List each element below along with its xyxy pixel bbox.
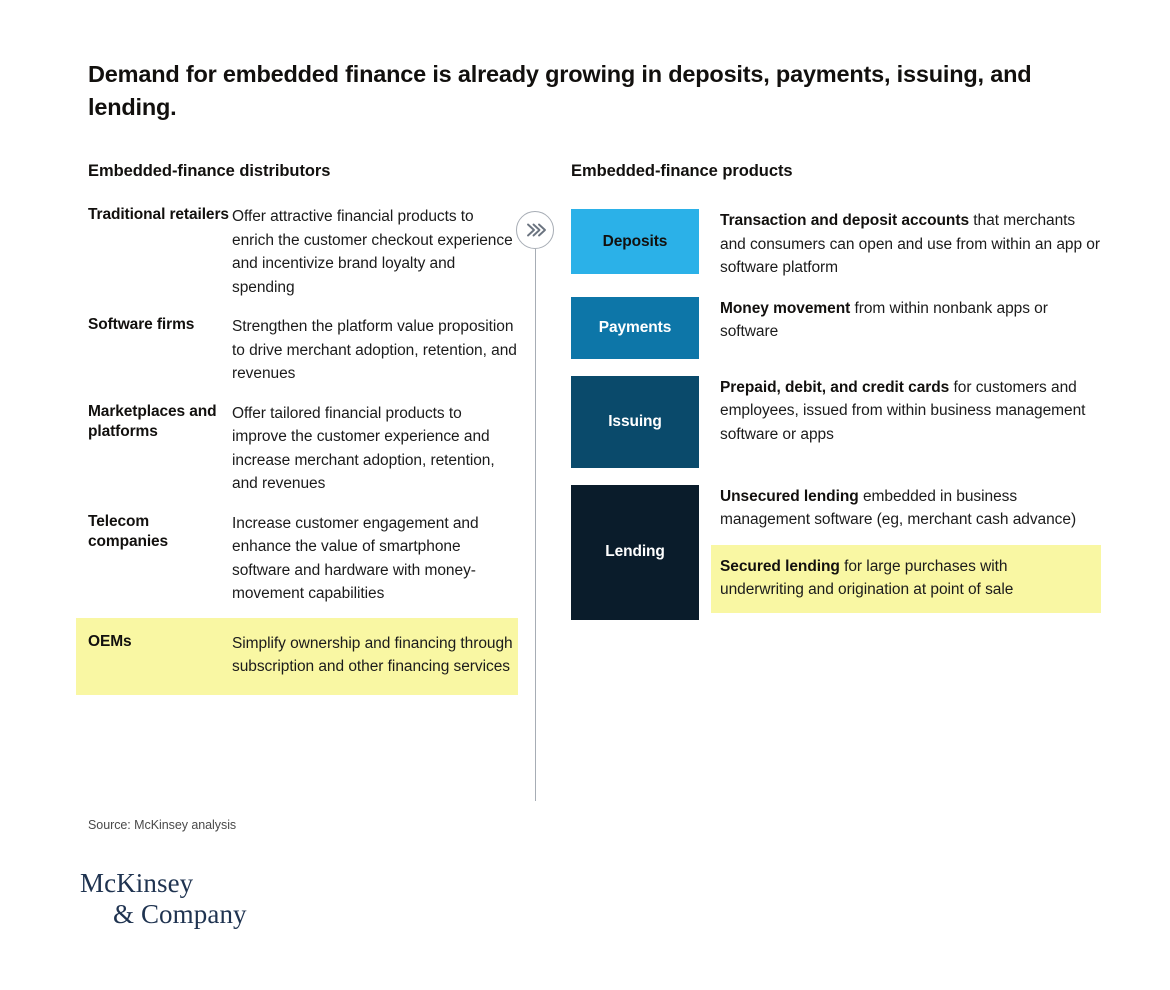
product-description: Secured lending for large purchases with… <box>711 545 1101 613</box>
product-description-lead: Unsecured lending <box>720 488 859 505</box>
distributor-row: OEMsSimplify ownership and financing thr… <box>76 618 518 695</box>
product-description: Transaction and deposit accounts that me… <box>720 209 1101 280</box>
product-category-label: Deposits <box>603 233 668 251</box>
product-descriptions: Unsecured lending embedded in business m… <box>699 485 1101 620</box>
product-category-box: Payments <box>571 297 699 359</box>
distributor-description: Offer attractive financial products to e… <box>232 205 518 299</box>
product-description-lead: Money movement <box>720 300 850 317</box>
product-descriptions: Prepaid, debit, and credit cards for cus… <box>699 376 1101 468</box>
product-category-label: Payments <box>599 319 671 337</box>
flow-connector <box>516 211 556 811</box>
product-description-lead: Secured lending <box>720 558 840 575</box>
product-description: Unsecured lending embedded in business m… <box>720 485 1101 532</box>
distributor-row: Telecom companiesIncrease customer engag… <box>76 512 518 606</box>
page-title: Demand for embedded finance is already g… <box>88 58 1038 124</box>
distributor-row: Software firmsStrengthen the platform va… <box>76 315 518 386</box>
column-heading-distributors: Embedded-finance distributors <box>88 162 330 181</box>
distributor-description: Offer tailored financial products to imp… <box>232 402 518 496</box>
logo-line-2: & Company <box>80 899 247 930</box>
mckinsey-logo: McKinsey & Company <box>80 868 247 930</box>
product-category-label: Issuing <box>608 413 662 431</box>
distributor-term: Marketplaces and platforms <box>88 402 232 496</box>
distributor-row: Marketplaces and platformsOffer tailored… <box>76 402 518 496</box>
product-description: Prepaid, debit, and credit cards for cus… <box>720 376 1101 447</box>
product-row: DepositsTransaction and deposit accounts… <box>571 209 1101 280</box>
distributor-term: OEMs <box>88 632 232 679</box>
distributor-description: Strengthen the platform value propositio… <box>232 315 518 386</box>
product-descriptions: Transaction and deposit accounts that me… <box>699 209 1101 280</box>
product-row: IssuingPrepaid, debit, and credit cards … <box>571 376 1101 468</box>
source-note: Source: McKinsey analysis <box>88 818 236 832</box>
product-description-lead: Prepaid, debit, and credit cards <box>720 379 949 396</box>
distributor-term: Software firms <box>88 315 232 386</box>
logo-line-1: McKinsey <box>80 868 247 899</box>
distributors-list: Traditional retailersOffer attractive fi… <box>76 205 518 711</box>
product-descriptions: Money movement from within nonbank apps … <box>699 297 1101 359</box>
product-category-box: Issuing <box>571 376 699 468</box>
product-category-box: Deposits <box>571 209 699 274</box>
product-row: LendingUnsecured lending embedded in bus… <box>571 485 1101 620</box>
product-description-lead: Transaction and deposit accounts <box>720 212 969 229</box>
products-list: DepositsTransaction and deposit accounts… <box>571 209 1101 637</box>
product-description: Money movement from within nonbank apps … <box>720 297 1101 344</box>
distributor-description: Simplify ownership and financing through… <box>232 632 518 679</box>
product-category-label: Lending <box>605 543 665 561</box>
exhibit-canvas: Demand for embedded finance is already g… <box>0 0 1170 990</box>
triple-chevron-right-icon <box>516 211 554 249</box>
column-heading-products: Embedded-finance products <box>571 162 793 181</box>
product-row: PaymentsMoney movement from within nonba… <box>571 297 1101 359</box>
distributor-term: Traditional retailers <box>88 205 232 299</box>
connector-line <box>535 249 536 801</box>
distributor-row: Traditional retailersOffer attractive fi… <box>76 205 518 299</box>
distributor-term: Telecom companies <box>88 512 232 606</box>
distributor-description: Increase customer engagement and enhance… <box>232 512 518 606</box>
product-category-box: Lending <box>571 485 699 620</box>
